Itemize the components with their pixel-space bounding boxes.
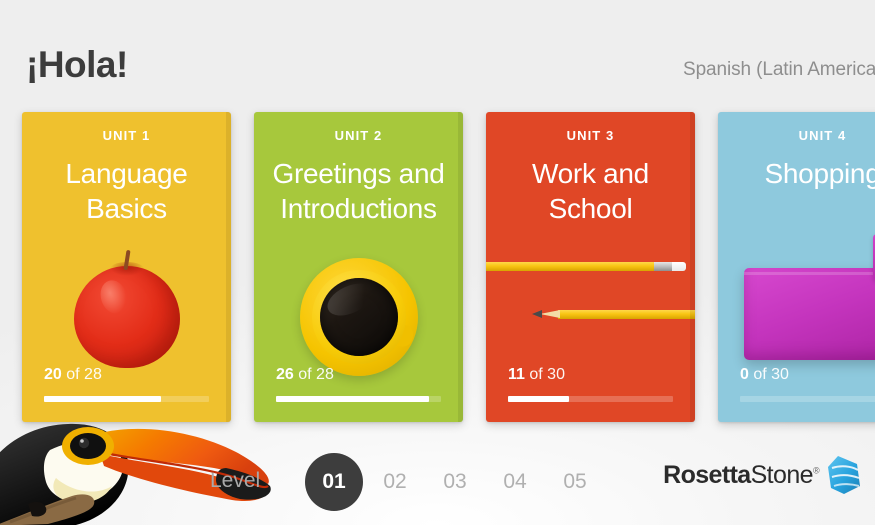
level-item-03[interactable]: 03 <box>425 453 485 511</box>
progress-total: 30 <box>771 366 789 383</box>
rosetta-stone-logo: RosettaStone® <box>663 455 861 495</box>
logo-registered-mark: ® <box>813 465 819 475</box>
header: ¡Hola! Spanish (Latin America) <box>0 0 875 104</box>
unit-progress-text: 0 of 30 <box>740 366 789 384</box>
unit-card-list: UNIT 1 Language Basics 20 of 28 UNIT 2 G… <box>22 112 875 422</box>
progress-completed: 26 <box>276 366 294 383</box>
progress-of: of <box>66 366 79 383</box>
unit-title: Shopping <box>726 156 875 191</box>
logo-light: Stone <box>751 461 813 489</box>
level-item-04[interactable]: 04 <box>485 453 545 511</box>
logo-wordmark: RosettaStone® <box>663 461 819 490</box>
page-title: ¡Hola! <box>26 46 128 83</box>
unit-label: UNIT 3 <box>486 128 695 143</box>
unit-progress-text: 11 of 30 <box>508 366 565 384</box>
unit-card-2[interactable]: UNIT 2 Greetings and Introductions 26 of… <box>254 112 463 422</box>
progress-of: of <box>753 366 766 383</box>
coffee-cup-icon <box>254 242 463 382</box>
unit-label: UNIT 2 <box>254 128 463 143</box>
unit-progress-fill <box>508 396 569 402</box>
app-root: ¡Hola! Spanish (Latin America) UNIT 1 La… <box>0 0 875 525</box>
unit-progress-text: 20 of 28 <box>44 366 102 384</box>
progress-total: 28 <box>316 366 334 383</box>
unit-title: Greetings and Introductions <box>262 156 455 227</box>
unit-progress-text: 26 of 28 <box>276 366 334 384</box>
apple-icon <box>22 242 231 382</box>
unit-progress-bar <box>740 396 875 402</box>
level-item-01[interactable]: 01 <box>305 453 363 511</box>
wallet-icon <box>718 242 875 382</box>
progress-completed: 0 <box>740 366 749 383</box>
level-label: Level <box>210 469 260 493</box>
stone-icon <box>827 455 861 495</box>
progress-completed: 20 <box>44 366 62 383</box>
pencil-top <box>486 262 695 271</box>
unit-card-3[interactable]: UNIT 3 Work and School 11 of 30 <box>486 112 695 422</box>
unit-card-1[interactable]: UNIT 1 Language Basics 20 of 28 <box>22 112 231 422</box>
unit-title: Work and School <box>494 156 687 227</box>
unit-label: UNIT 1 <box>22 128 231 143</box>
unit-progress-bar <box>276 396 441 402</box>
pencils-icon <box>486 242 695 382</box>
unit-title: Language Basics <box>30 156 223 227</box>
progress-completed: 11 <box>508 366 525 383</box>
progress-total: 28 <box>84 366 102 383</box>
bottom-bar: Level 01 02 03 04 05 RosettaStone® <box>0 425 875 525</box>
level-selector: 01 02 03 04 05 <box>305 453 605 511</box>
logo-bold: Rosetta <box>663 461 751 489</box>
unit-label: UNIT 4 <box>718 128 875 143</box>
progress-of: of <box>529 366 542 383</box>
progress-of: of <box>298 366 311 383</box>
level-item-05[interactable]: 05 <box>545 453 605 511</box>
language-selector[interactable]: Spanish (Latin America) <box>683 59 875 81</box>
level-item-02[interactable]: 02 <box>365 453 425 511</box>
unit-progress-bar <box>508 396 673 402</box>
progress-total: 30 <box>547 366 565 383</box>
pencil-bottom <box>532 310 695 319</box>
unit-card-4[interactable]: UNIT 4 Shopping 0 of 30 <box>718 112 875 422</box>
